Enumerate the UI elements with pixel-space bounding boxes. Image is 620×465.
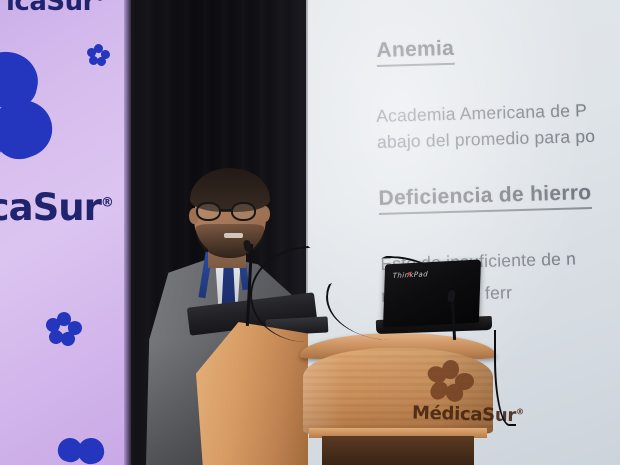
medicasur-flower-logo-small-mid <box>48 312 82 346</box>
conference-photo: Anemia Academia Americana de P abajo del… <box>0 0 620 465</box>
banner-edge <box>124 0 132 465</box>
medicasur-backdrop-banner: icaSur® icaSur® <box>0 0 131 465</box>
podium-plinth <box>322 436 474 465</box>
slide-heading-anemia: Anemia <box>376 37 454 67</box>
eyeglasses <box>196 202 264 222</box>
glasses-bridge <box>221 209 231 211</box>
podium-flower-engraving-icon <box>430 360 474 402</box>
slide-body-anemia-line-2: abajo del promedio para po <box>377 126 596 153</box>
medicasur-flower-logo-large <box>0 52 80 182</box>
lens-left <box>196 202 221 221</box>
banner-brand-mid: icaSur® <box>0 186 113 229</box>
lens-right <box>231 202 256 221</box>
medicasur-flower-logo-bottom <box>58 438 104 465</box>
medicasur-flower-logo-small-top <box>88 44 110 66</box>
banner-brand-top: icaSur® <box>6 0 104 17</box>
slide-body-anemia-line-1: Academia Americana de P <box>376 100 587 127</box>
mouth <box>224 233 243 238</box>
slide-heading-deficiencia-hierro: Deficiencia de hierro <box>378 181 592 215</box>
